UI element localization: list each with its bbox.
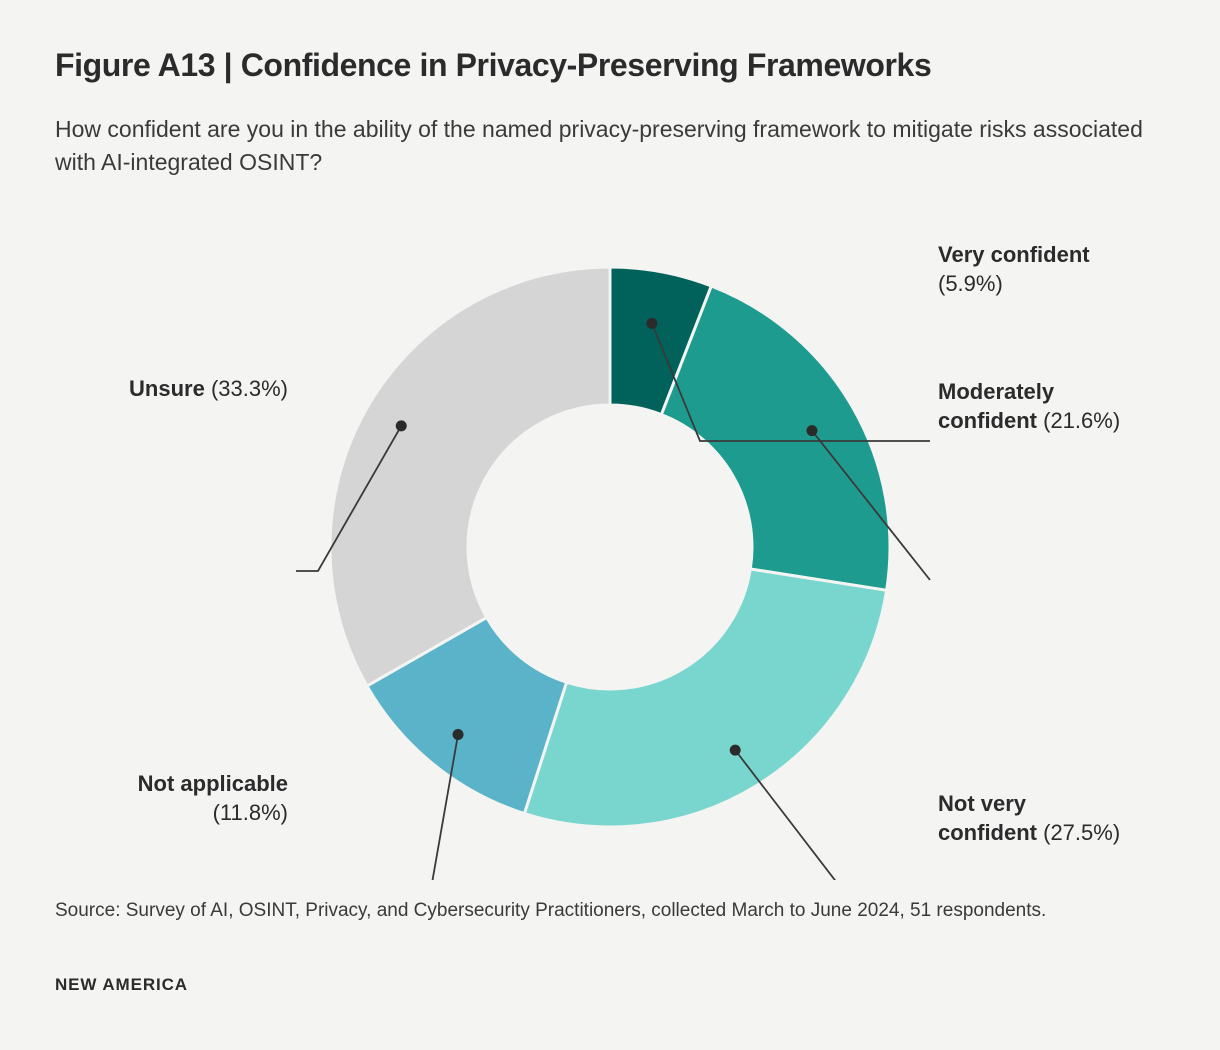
callout-very-confident-value: (5.9%) [938, 271, 1003, 296]
callout-unsure-label: Unsure [129, 376, 205, 401]
figure-subtitle: How confident are you in the ability of … [55, 113, 1175, 178]
callout-moderately-confident: Moderately confident (21.6%) [938, 377, 1190, 436]
figure-page: Figure A13 | Confidence in Privacy-Prese… [0, 0, 1220, 1050]
callout-unsure: Unsure (33.3%) [30, 374, 288, 403]
source-note: Source: Survey of AI, OSINT, Privacy, an… [55, 898, 1175, 925]
page-title: Figure A13 | Confidence in Privacy-Prese… [55, 45, 1165, 85]
leader-dot [453, 729, 464, 740]
callout-moderately-confident-value: (21.6%) [1043, 408, 1120, 433]
callout-not-applicable: Not applicable (11.8%) [30, 769, 288, 828]
callout-not-very-confident-label-line1: Not very [938, 791, 1026, 816]
callout-very-confident-label: Very confident [938, 242, 1090, 267]
callout-not-very-confident-value: (27.5%) [1043, 820, 1120, 845]
leader-dot [396, 420, 407, 431]
callout-very-confident: Very confident (5.9%) [938, 240, 1188, 299]
leader-dot [730, 745, 741, 756]
leader-dot [646, 318, 657, 329]
brand-wordmark: NEW AMERICA [55, 975, 188, 995]
donut-slice[interactable] [524, 569, 886, 827]
callout-unsure-value: (33.3%) [211, 376, 288, 401]
callout-not-applicable-value: (11.8%) [213, 800, 288, 825]
callout-not-very-confident-label-line2: confident [938, 820, 1037, 845]
donut-slice-group [330, 267, 890, 827]
callout-moderately-confident-label-line1: Moderately [938, 379, 1054, 404]
callout-not-applicable-label: Not applicable [138, 771, 288, 796]
donut-slice[interactable] [661, 286, 890, 590]
leader-dot [806, 425, 817, 436]
callout-moderately-confident-label-line2: confident [938, 408, 1037, 433]
callout-not-very-confident: Not very confident (27.5%) [938, 789, 1188, 848]
